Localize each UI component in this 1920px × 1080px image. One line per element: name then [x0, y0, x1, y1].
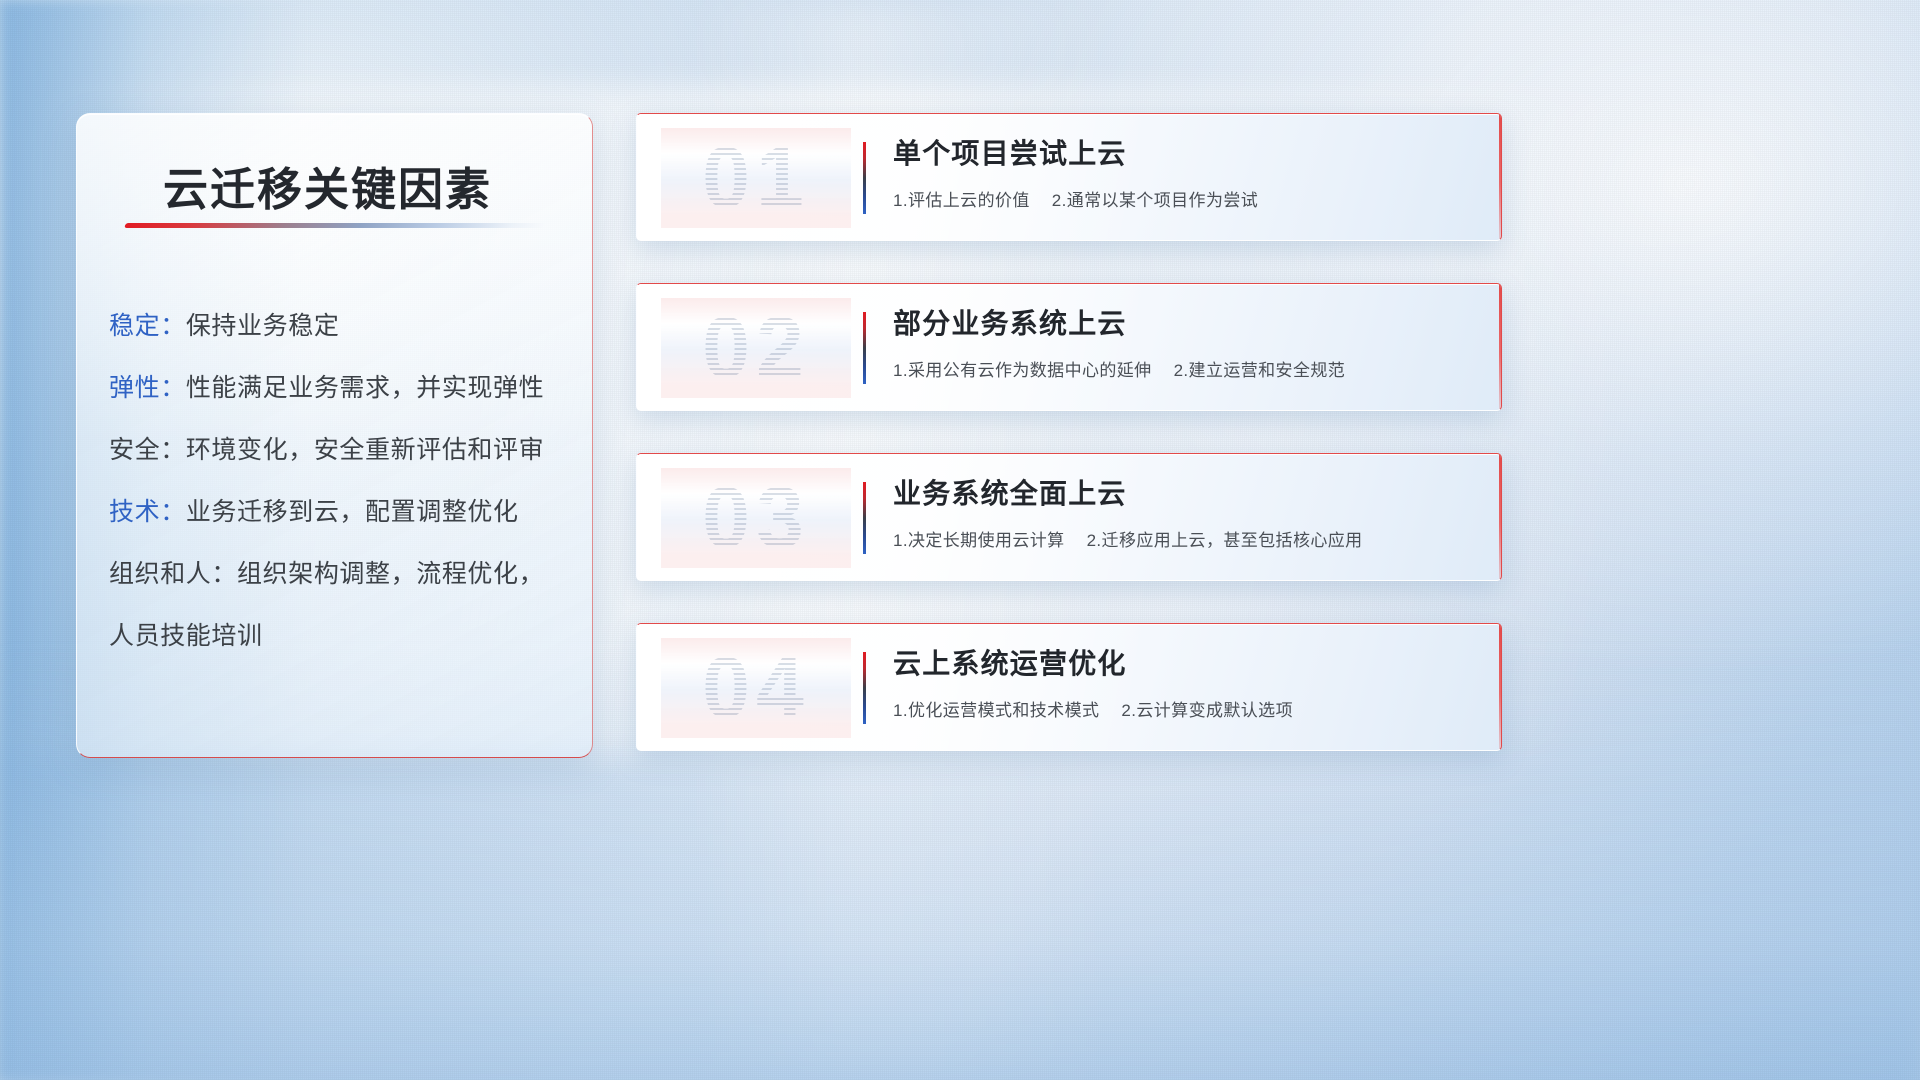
- stage-title: 业务系统全面上云: [893, 478, 1475, 510]
- stage-title: 部分业务系统上云: [893, 308, 1475, 340]
- stage-number: 03: [661, 468, 851, 568]
- stage-point-1: 1.采用公有云作为数据中心的延伸: [893, 361, 1152, 380]
- factor-row: 组织和人：组织架构调整，流程优化，: [109, 562, 574, 587]
- migration-stage-list: 01单个项目尝试上云1.评估上云的价值2.通常以某个项目作为尝试02部分业务系统…: [636, 113, 1502, 793]
- stage-point-1: 1.决定长期使用云计算: [893, 531, 1065, 550]
- stage-title: 云上系统运营优化: [893, 648, 1475, 680]
- factor-label: 稳定：: [109, 312, 186, 340]
- stage-card[interactable]: 04云上系统运营优化1.优化运营模式和技术模式2.云计算变成默认选项: [636, 623, 1502, 751]
- factor-label: 弹性：: [109, 374, 186, 402]
- stage-description: 1.采用公有云作为数据中心的延伸2.建立运营和安全规范: [893, 356, 1475, 381]
- card-accent-divider: [863, 312, 866, 384]
- factor-text: 环境变化，安全重新评估和评审: [186, 436, 544, 464]
- stage-number: 01: [661, 128, 851, 228]
- factor-text: 性能满足业务需求，并实现弹性: [186, 374, 544, 402]
- factor-row: 技术：业务迁移到云，配置调整优化: [109, 500, 574, 525]
- stage-point-1: 1.评估上云的价值: [893, 191, 1030, 210]
- stage-description: 1.决定长期使用云计算2.迁移应用上云，甚至包括核心应用: [893, 526, 1475, 551]
- factor-text: 业务迁移到云，配置调整优化: [186, 498, 519, 526]
- stage-description: 1.优化运营模式和技术模式2.云计算变成默认选项: [893, 696, 1475, 721]
- card-body: 单个项目尝试上云1.评估上云的价值2.通常以某个项目作为尝试: [893, 138, 1475, 211]
- key-factors-panel: 云迁移关键因素 稳定：保持业务稳定弹性：性能满足业务需求，并实现弹性安全：环境变…: [76, 113, 593, 758]
- factor-text: 组织架构调整，流程优化，: [237, 560, 544, 588]
- card-body: 业务系统全面上云1.决定长期使用云计算2.迁移应用上云，甚至包括核心应用: [893, 478, 1475, 551]
- factor-text: 保持业务稳定: [186, 312, 340, 340]
- panel-title: 云迁移关键因素: [163, 153, 492, 218]
- stage-card[interactable]: 03业务系统全面上云1.决定长期使用云计算2.迁移应用上云，甚至包括核心应用: [636, 453, 1502, 581]
- factor-label: 安全：: [109, 436, 186, 464]
- factor-label: 技术：: [109, 498, 186, 526]
- factor-list: 稳定：保持业务稳定弹性：性能满足业务需求，并实现弹性安全：环境变化，安全重新评估…: [109, 314, 574, 686]
- stage-point-2: 2.建立运营和安全规范: [1174, 361, 1346, 380]
- stage-card[interactable]: 02部分业务系统上云1.采用公有云作为数据中心的延伸2.建立运营和安全规范: [636, 283, 1502, 411]
- stage-point-2: 2.通常以某个项目作为尝试: [1052, 191, 1258, 210]
- stage-number: 02: [661, 298, 851, 398]
- card-accent-divider: [863, 652, 866, 724]
- card-body: 云上系统运营优化1.优化运营模式和技术模式2.云计算变成默认选项: [893, 648, 1475, 721]
- stage-point-2: 2.迁移应用上云，甚至包括核心应用: [1087, 531, 1363, 550]
- card-accent-divider: [863, 142, 866, 214]
- factor-row: 弹性：性能满足业务需求，并实现弹性: [109, 376, 574, 401]
- factor-label: 组织和人：: [109, 560, 237, 588]
- factor-text: 人员技能培训: [109, 622, 263, 650]
- card-body: 部分业务系统上云1.采用公有云作为数据中心的延伸2.建立运营和安全规范: [893, 308, 1475, 381]
- title-underline-accent: [124, 223, 546, 228]
- factor-row: 稳定：保持业务稳定: [109, 314, 574, 339]
- factor-row: 人员技能培训: [109, 624, 574, 649]
- stage-description: 1.评估上云的价值2.通常以某个项目作为尝试: [893, 186, 1475, 211]
- stage-number: 04: [661, 638, 851, 738]
- card-accent-divider: [863, 482, 866, 554]
- stage-title: 单个项目尝试上云: [893, 138, 1475, 170]
- factor-row: 安全：环境变化，安全重新评估和评审: [109, 438, 574, 463]
- stage-card[interactable]: 01单个项目尝试上云1.评估上云的价值2.通常以某个项目作为尝试: [636, 113, 1502, 241]
- stage-point-1: 1.优化运营模式和技术模式: [893, 701, 1099, 720]
- stage-point-2: 2.云计算变成默认选项: [1121, 701, 1293, 720]
- slide-stage: 云迁移关键因素 稳定：保持业务稳定弹性：性能满足业务需求，并实现弹性安全：环境变…: [0, 0, 1920, 1080]
